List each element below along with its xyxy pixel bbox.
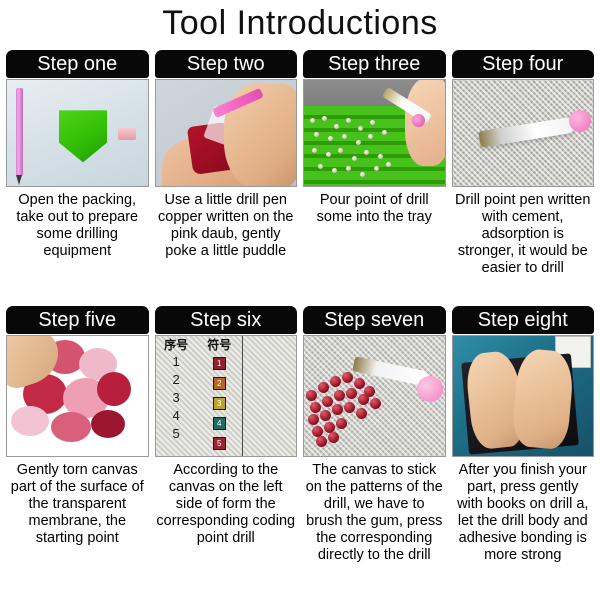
flower-shape-icon: [51, 412, 91, 442]
legend-symbol-swatch: 5: [213, 437, 226, 450]
step-eight-photo: [452, 335, 595, 457]
step-three-caption: Pour point of drill some into the tray: [303, 192, 446, 226]
step-two-header: Step two: [155, 50, 298, 78]
step-card-five: Step five Gently torn canvas part of the…: [6, 306, 149, 574]
legend-cell-serial: 2: [173, 371, 180, 389]
step-card-eight: Step eight After you finish your part, p…: [452, 306, 595, 574]
step-card-four: Step four Drill point pen written with c…: [452, 50, 595, 300]
step-five-header: Step five: [6, 306, 149, 334]
step-one-caption: Open the packing, take out to prepare so…: [6, 192, 149, 260]
pen-tip-icon: [569, 110, 591, 132]
step-two-photo: [155, 79, 298, 187]
legend-symbol-swatch: 1: [213, 357, 226, 370]
drill-beads-group-icon: [308, 114, 396, 180]
step-three-header: Step three: [303, 50, 446, 78]
page-title: Tool Introductions: [0, 0, 600, 42]
legend-symbol-swatch: 2: [213, 377, 226, 390]
legend-cell-serial: 5: [173, 425, 180, 443]
legend-cell-serial: 4: [173, 407, 180, 425]
step-card-two: Step two Use a little drill pen copper w…: [155, 50, 298, 300]
steps-row-one: Step one Open the packing, take out to p…: [0, 50, 600, 300]
legend-header-serial: 序号: [164, 338, 188, 353]
legend-symbol-swatch: 3: [213, 397, 226, 410]
step-eight-caption: After you finish your part, press gently…: [452, 462, 595, 564]
pen-grip-icon: [412, 114, 425, 127]
step-four-photo: [452, 79, 595, 187]
red-drills-group-icon: [306, 368, 396, 446]
flower-shape-icon: [97, 372, 131, 406]
drill-pen-icon: [16, 88, 23, 176]
legend-symbol-swatch: 4: [213, 417, 226, 430]
flower-shape-icon: [91, 410, 125, 438]
legend-cell-serial: 3: [173, 389, 180, 407]
flower-shape-icon: [11, 406, 49, 436]
step-seven-header: Step seven: [303, 306, 446, 334]
pen-tip-icon: [417, 376, 443, 402]
step-seven-photo: [303, 335, 446, 457]
step-six-header: Step six: [155, 306, 298, 334]
legend-column-serial: 序号 1 2 3 4 5: [156, 336, 197, 456]
step-four-header: Step four: [452, 50, 595, 78]
legend-column-symbol: 符号 1 2 3 4 5: [197, 336, 242, 456]
legend-cell-serial: 1: [173, 353, 180, 371]
tool-introductions-page: Tool Introductions Step one Open the pac…: [0, 0, 600, 600]
drill-pen-icon: [478, 117, 575, 148]
step-six-photo: 序号 1 2 3 4 5 符号 1 2 3 4 5: [155, 335, 298, 457]
step-five-caption: Gently torn canvas part of the surface o…: [6, 462, 149, 547]
step-four-caption: Drill point pen written with cement, ads…: [452, 192, 595, 277]
legend-header-symbol: 符号: [207, 338, 231, 353]
steps-row-two: Step five Gently torn canvas part of the…: [0, 306, 600, 574]
step-eight-header: Step eight: [452, 306, 595, 334]
step-six-caption: According to the canvas on the left side…: [155, 462, 298, 547]
green-tray-icon: [59, 110, 107, 162]
legend-blank-canvas-area: [243, 336, 296, 456]
step-three-photo: [303, 79, 446, 187]
step-card-three: Step three Pour point of drill some in: [303, 50, 446, 300]
step-one-header: Step one: [6, 50, 149, 78]
step-card-seven: Step seven The canvas to stick on the pa…: [303, 306, 446, 574]
step-card-six: Step six 序号 1 2 3 4 5 符号 1 2 3: [155, 306, 298, 574]
step-card-one: Step one Open the packing, take out to p…: [6, 50, 149, 300]
coding-legend-table: 序号 1 2 3 4 5 符号 1 2 3 4 5: [156, 336, 243, 456]
step-five-photo: [6, 335, 149, 457]
step-one-photo: [6, 79, 149, 187]
step-two-caption: Use a little drill pen copper written on…: [155, 192, 298, 260]
pink-wax-block-icon: [118, 128, 136, 140]
step-seven-caption: The canvas to stick on the patterns of t…: [303, 462, 446, 564]
